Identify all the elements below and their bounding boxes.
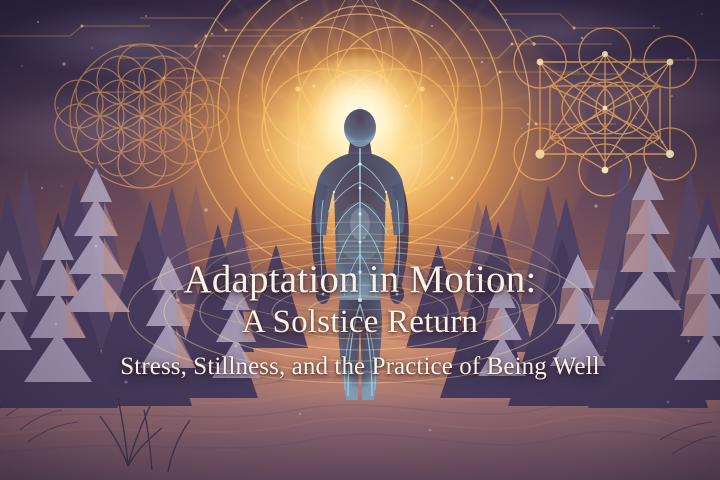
falling-snow xyxy=(0,0,720,480)
poster-canvas: Adaptation in Motion: A Solstice Return … xyxy=(0,0,720,480)
